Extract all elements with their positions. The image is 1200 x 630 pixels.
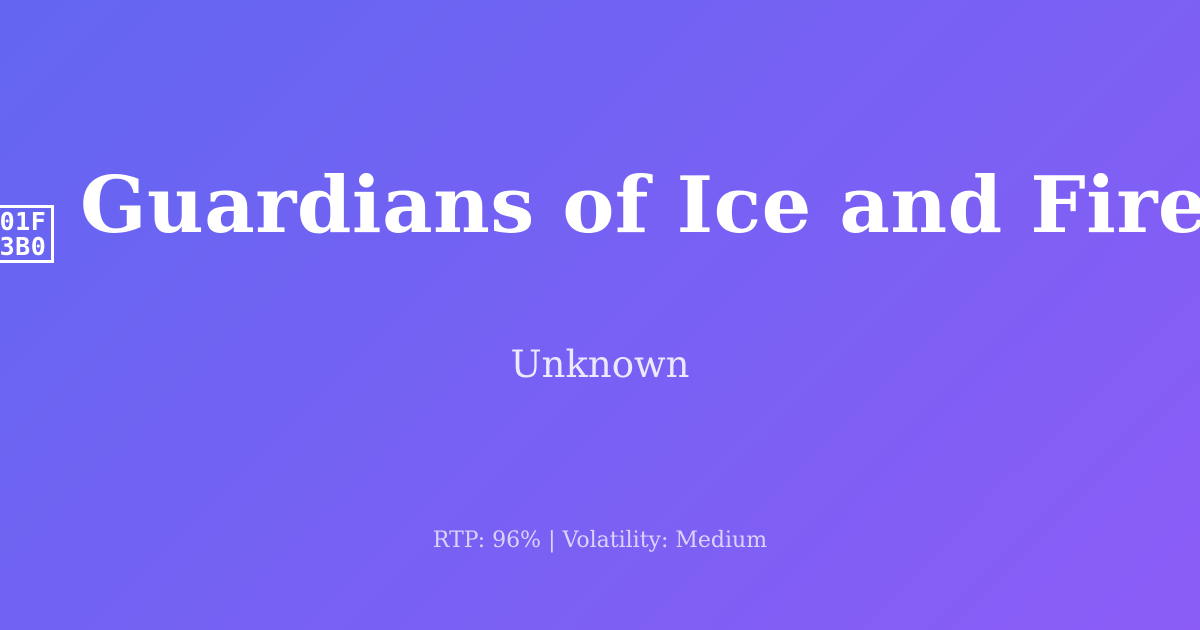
- game-preview-card: 01F 3B0 Guardians of Ice and Fire Unknow…: [0, 0, 1200, 630]
- slot-machine-emoji-icon: 01F 3B0: [0, 205, 54, 263]
- tofu-codepoint-upper: 01F: [0, 209, 46, 234]
- tofu-codepoint-lower: 3B0: [0, 234, 46, 259]
- hero-section: 01F 3B0 Guardians of Ice and Fire Unknow…: [0, 0, 1200, 500]
- page-title: Guardians of Ice and Fire: [80, 165, 1200, 247]
- title-row: 01F 3B0 Guardians of Ice and Fire: [0, 113, 1200, 299]
- page-subtitle: Unknown: [510, 343, 689, 387]
- game-meta-line: RTP: 96% | Volatility: Medium: [0, 528, 1200, 554]
